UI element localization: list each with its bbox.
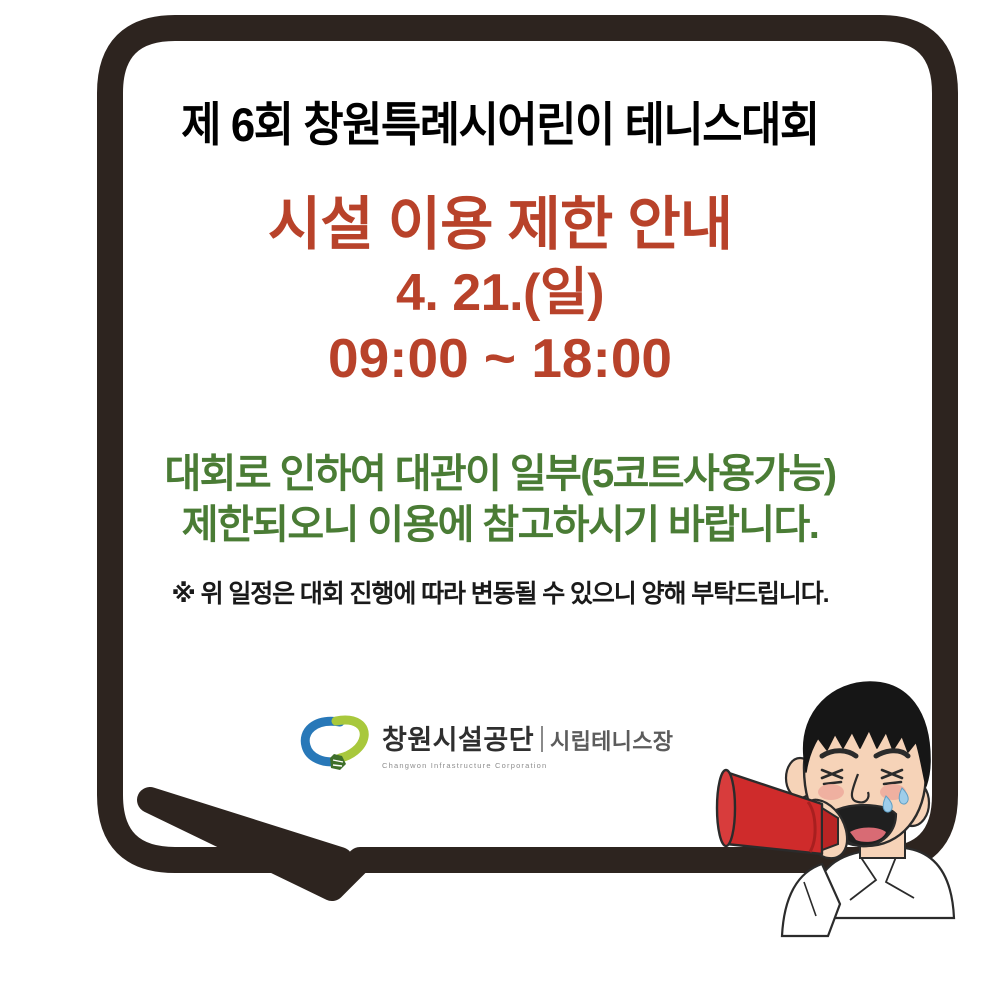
logo-organization: 창원시설공단 bbox=[382, 718, 534, 757]
logo: 창원시설공단 시립테니스장 Changwon Infrastructure Co… bbox=[300, 712, 673, 774]
event-title: 제 6회 창원특례시어린이 테니스대회 bbox=[119, 100, 882, 149]
logo-divider bbox=[541, 726, 543, 752]
logo-english-name: Changwon Infrastructure Corporation bbox=[382, 761, 673, 770]
changwon-swoosh-icon bbox=[300, 712, 372, 774]
disclaimer-note: ※ 위 일정은 대회 진행에 따라 변동될 수 있으니 양해 부탁드립니다. bbox=[90, 579, 910, 609]
logo-facility: 시립테니스장 bbox=[550, 724, 673, 756]
logo-text: 창원시설공단 시립테니스장 Changwon Infrastructure Co… bbox=[382, 716, 673, 770]
body-line-2: 제한되오니 이용에 참고하시기 바랍니다. bbox=[90, 500, 910, 551]
character-shirt bbox=[782, 848, 954, 936]
poster-content: 제 6회 창원특례시어린이 테니스대회 시설 이용 제한 안내 4. 21.(일… bbox=[90, 100, 910, 609]
schedule-time: 09:00 ~ 18:00 bbox=[90, 325, 910, 391]
headline-notice: 시설 이용 제한 안내 bbox=[90, 193, 910, 258]
poster-canvas: 제 6회 창원특례시어린이 테니스대회 시설 이용 제한 안내 4. 21.(일… bbox=[0, 0, 1000, 1000]
man-with-megaphone-illustration bbox=[700, 668, 1000, 938]
body-line-1: 대회로 인하여 대관이 일부(5코트사용가능) bbox=[90, 449, 910, 500]
schedule-date: 4. 21.(일) bbox=[90, 262, 910, 324]
